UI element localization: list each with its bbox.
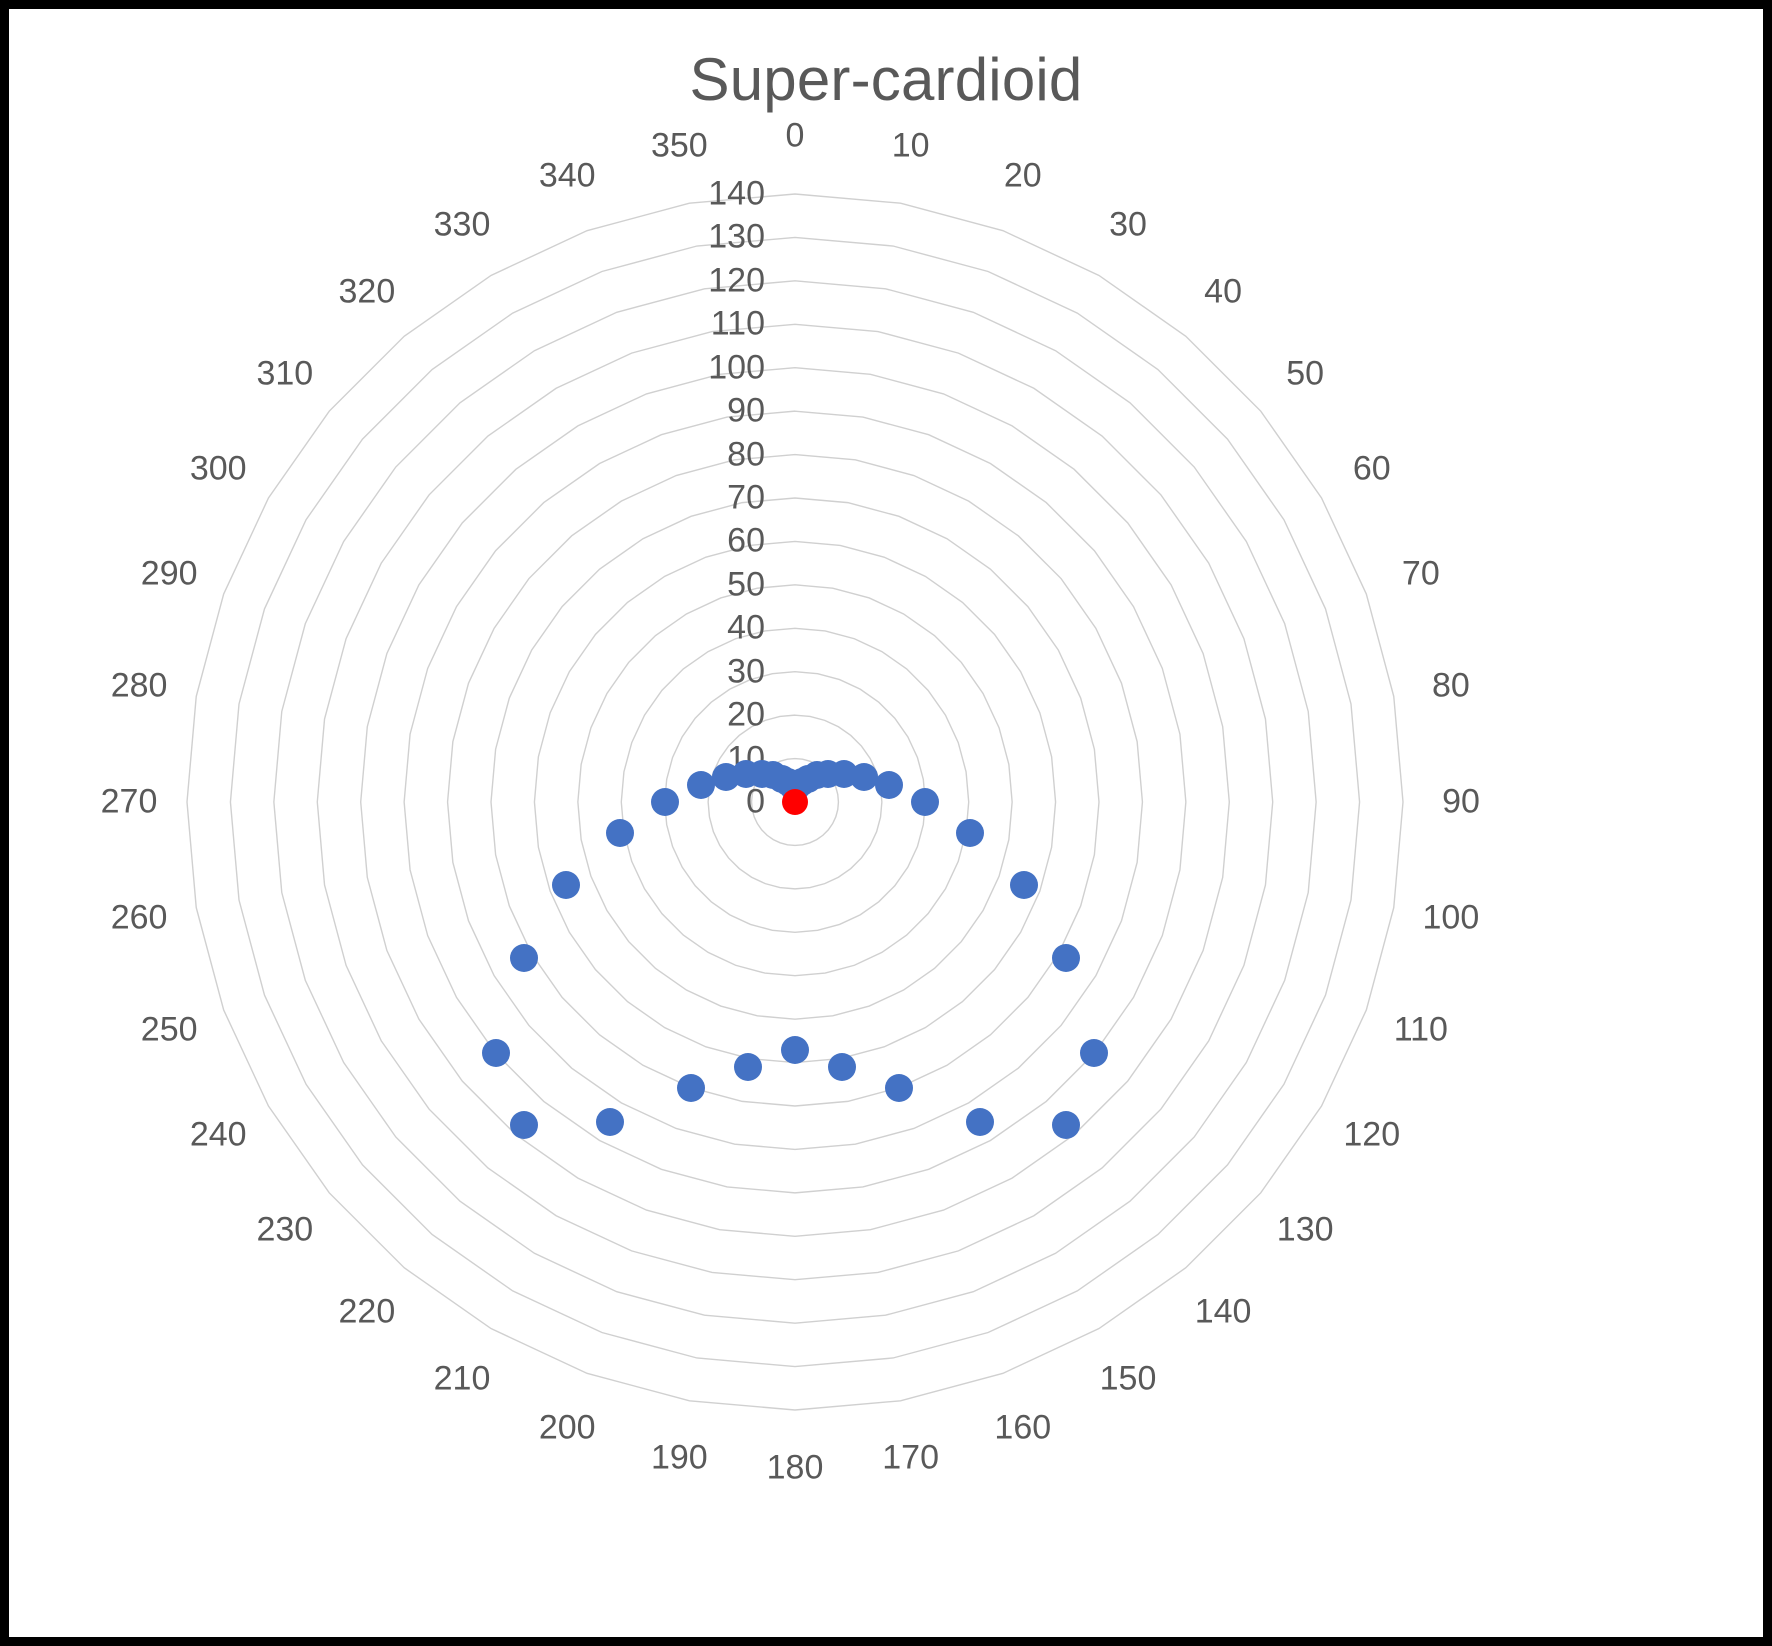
data-point[interactable]: [606, 819, 634, 847]
angular-tick-label-20: 20: [1004, 157, 1042, 196]
radial-tick-label-130: 130: [708, 218, 765, 257]
angular-tick-label-250: 250: [141, 1010, 198, 1049]
data-point[interactable]: [956, 819, 984, 847]
data-point[interactable]: [482, 1039, 510, 1067]
data-point[interactable]: [966, 1108, 994, 1136]
angular-tick-label-270: 270: [101, 783, 158, 822]
data-point[interactable]: [828, 1053, 856, 1081]
angular-tick-label-190: 190: [651, 1438, 708, 1477]
data-point[interactable]: [781, 1036, 809, 1064]
radial-tick-label-110: 110: [711, 305, 765, 344]
radial-tick-label-80: 80: [727, 435, 765, 474]
angular-tick-label-80: 80: [1432, 667, 1470, 706]
angular-tick-label-240: 240: [190, 1116, 247, 1155]
angular-tick-label-310: 310: [256, 354, 313, 393]
radial-tick-label-120: 120: [708, 261, 765, 300]
data-point[interactable]: [1052, 944, 1080, 972]
angular-tick-label-170: 170: [882, 1438, 939, 1477]
angular-tick-label-280: 280: [111, 667, 168, 706]
angular-tick-label-340: 340: [539, 157, 596, 196]
data-point[interactable]: [651, 788, 679, 816]
data-point[interactable]: [1010, 871, 1038, 899]
angular-tick-label-50: 50: [1286, 354, 1324, 393]
data-point[interactable]: [677, 1074, 705, 1102]
angular-tick-label-110: 110: [1394, 1010, 1448, 1049]
data-point[interactable]: [1052, 1111, 1080, 1139]
radial-tick-label-140: 140: [708, 175, 765, 214]
polar-gridlines: [9, 9, 1772, 1646]
angular-tick-label-60: 60: [1353, 450, 1391, 489]
data-point[interactable]: [596, 1108, 624, 1136]
radial-tick-label-60: 60: [727, 522, 765, 561]
angular-tick-label-260: 260: [111, 898, 168, 937]
angular-tick-label-160: 160: [994, 1408, 1051, 1447]
data-point[interactable]: [875, 771, 903, 799]
angular-tick-label-180: 180: [767, 1449, 824, 1488]
angular-tick-label-350: 350: [651, 127, 708, 166]
data-point[interactable]: [552, 871, 580, 899]
angular-tick-label-210: 210: [434, 1359, 491, 1398]
angular-tick-label-40: 40: [1204, 272, 1242, 311]
radial-tick-label-30: 30: [727, 652, 765, 691]
radial-tick-label-50: 50: [727, 565, 765, 604]
polar-plot-area: 0102030405060708090100110120130140150160…: [9, 9, 1772, 1646]
angular-tick-label-300: 300: [190, 450, 247, 489]
angular-tick-label-220: 220: [339, 1293, 396, 1332]
data-point[interactable]: [911, 788, 939, 816]
data-point[interactable]: [734, 1053, 762, 1081]
data-point[interactable]: [782, 789, 808, 815]
angular-tick-label-90: 90: [1442, 783, 1480, 822]
radial-tick-label-70: 70: [727, 479, 765, 518]
angular-tick-label-230: 230: [256, 1211, 313, 1250]
angular-tick-label-70: 70: [1402, 555, 1440, 594]
radial-tick-label-90: 90: [727, 392, 765, 431]
radial-tick-label-40: 40: [727, 609, 765, 648]
radial-tick-label-0: 0: [746, 783, 765, 822]
angular-tick-label-330: 330: [434, 206, 491, 245]
angular-tick-label-10: 10: [892, 127, 930, 166]
angular-tick-label-0: 0: [786, 117, 805, 156]
data-point[interactable]: [510, 1111, 538, 1139]
data-point[interactable]: [510, 944, 538, 972]
angular-tick-label-120: 120: [1343, 1116, 1400, 1155]
radial-tick-label-100: 100: [708, 348, 765, 387]
chart-page: Super-cardioid 0102030405060708090100110…: [0, 0, 1772, 1646]
angular-tick-label-320: 320: [339, 272, 396, 311]
angular-tick-label-140: 140: [1195, 1293, 1252, 1332]
angular-tick-label-100: 100: [1423, 898, 1480, 937]
angular-tick-label-30: 30: [1109, 206, 1147, 245]
angular-tick-label-150: 150: [1100, 1359, 1157, 1398]
data-point[interactable]: [885, 1074, 913, 1102]
angular-tick-label-290: 290: [141, 555, 198, 594]
angular-tick-label-130: 130: [1277, 1211, 1334, 1250]
radial-tick-label-20: 20: [727, 696, 765, 735]
data-point[interactable]: [1080, 1039, 1108, 1067]
angular-tick-label-200: 200: [539, 1408, 596, 1447]
